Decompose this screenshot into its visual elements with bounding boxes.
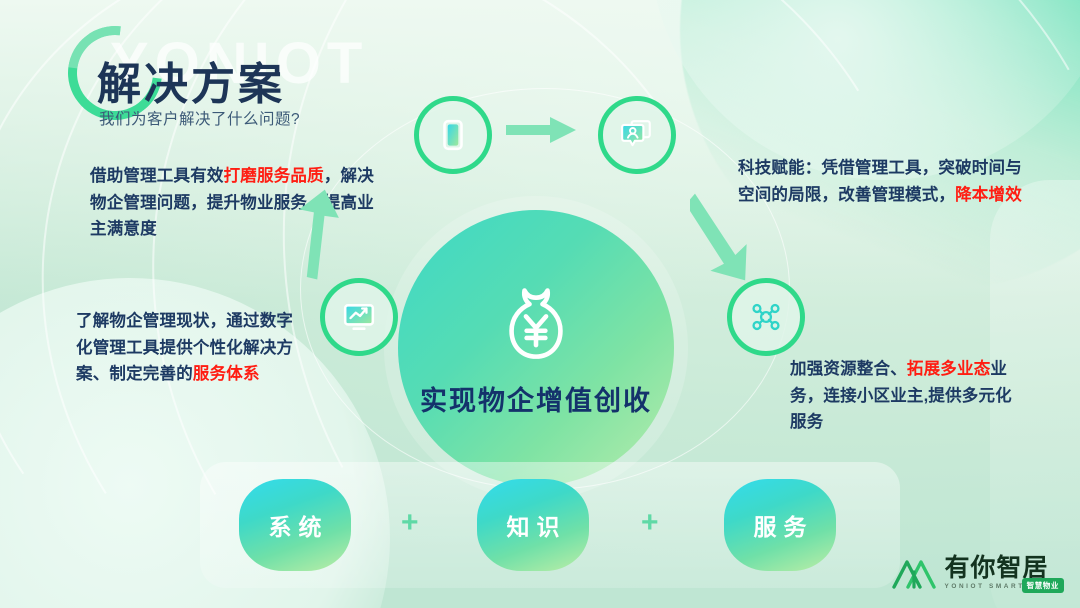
callout-segment: 加强资源整合、 [790,360,907,378]
bottom-left-callout: 了解物企管理现状，通过数字化管理工具提供个性化解决方案、制定完善的服务体系 [76,308,308,388]
brand-logo: 有你智居 YONIOT SMART LIVING 智慧物业 [892,550,1066,596]
arrow-up-icon [297,186,353,282]
arrow-down-right-icon [690,186,750,286]
node-person-card[interactable] [598,96,676,174]
callout-segment-highlight: 打磨服务品质 [224,167,324,185]
plus-operator-1: + [401,506,419,540]
bottom-right-callout: 加强资源整合、拓展多业态业务，连接小区业主,提供多元化服务 [790,356,1026,436]
page-title: 解决方案 [97,48,285,112]
slide-canvas: YONIOT 解决方案 我们为客户解决了什么问题? 借助管理工具有效打磨服务品质… [0,0,1080,608]
pill-service[interactable]: 服务 [724,479,836,571]
plus-operator-2: + [641,506,659,540]
center-goal-label: 实现物企增值创收 [420,379,652,418]
node-phone[interactable] [414,96,492,174]
callout-segment-highlight: 降本增效 [955,186,1022,204]
callout-segment: 了解物企管理现状，通过数字化管理工具提供个性化解决方案、制定完善的 [76,312,293,383]
top-right-callout: 科技赋能：凭借管理工具，突破时间与空间的局限，改善管理模式，降本增效 [738,155,1038,208]
mountain-logo-icon [892,556,938,590]
logo-badge: 智慧物业 [1022,578,1064,593]
callout-segment-highlight: 服务体系 [193,365,260,383]
node-network[interactable] [727,278,805,356]
center-goal-circle: 实现物企增值创收 [398,210,674,486]
monitor-trend-chart-icon [342,300,376,334]
network-nodes-icon [749,300,783,334]
money-bag-yen-icon [490,279,582,371]
node-monitor-chart[interactable] [320,278,398,356]
pill-knowledge[interactable]: 知识 [477,479,589,571]
page-subtitle: 我们为客户解决了什么问题? [99,107,300,129]
arrow-right-icon [506,115,578,145]
pill-system[interactable]: 系统 [239,479,351,571]
callout-segment-highlight: 拓展多业态 [907,360,991,378]
mobile-device-icon [436,118,470,152]
person-id-card-icon [620,118,654,152]
callout-segment: 借助管理工具有效 [90,167,224,185]
